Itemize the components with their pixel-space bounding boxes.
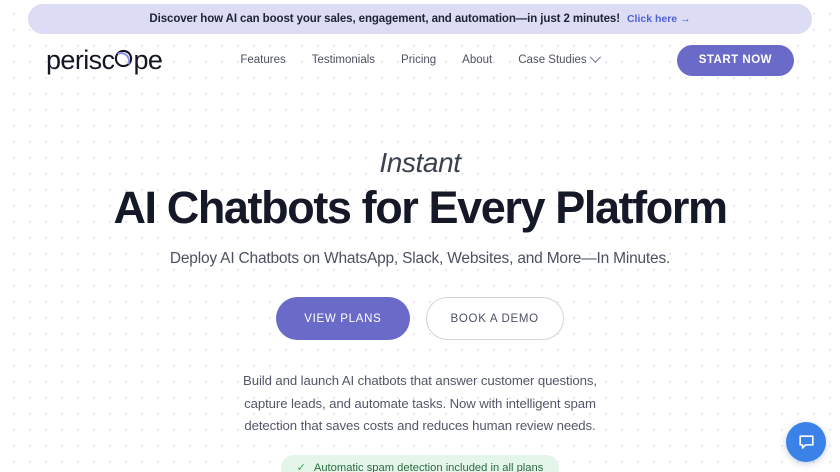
- page-title: AI Chatbots for Every Platform: [0, 183, 840, 233]
- nav-item-label: Testimonials: [312, 54, 375, 66]
- nav-item-label: Case Studies: [518, 54, 586, 66]
- status-badge-label: Automatic spam detection included in all…: [314, 462, 543, 472]
- site-header: perisc pe Features Testimonials Pricing …: [0, 34, 840, 86]
- nav-item-pricing[interactable]: Pricing: [401, 54, 436, 66]
- announcement-banner-link[interactable]: Click here →: [627, 13, 691, 25]
- logo-text-after: pe: [133, 45, 162, 76]
- hero-cta-group: VIEW PLANS BOOK A DEMO: [0, 297, 840, 340]
- nav-item-features[interactable]: Features: [240, 54, 285, 66]
- nav-item-label: Pricing: [401, 54, 436, 66]
- chat-widget-button[interactable]: [786, 422, 826, 462]
- nav-item-label: Features: [240, 54, 285, 66]
- logo-text-before: perisc: [46, 45, 114, 76]
- announcement-banner-container: Discover how AI can boost your sales, en…: [0, 0, 840, 34]
- hero-eyebrow: Instant: [0, 148, 840, 179]
- announcement-banner-text: Discover how AI can boost your sales, en…: [149, 13, 620, 25]
- status-badge: ✓ Automatic spam detection included in a…: [281, 455, 560, 472]
- logo[interactable]: perisc pe: [46, 45, 162, 76]
- main-nav: Features Testimonials Pricing About Case…: [240, 54, 599, 66]
- check-icon: ✓: [297, 463, 306, 472]
- chevron-down-icon: [590, 52, 601, 63]
- announcement-banner[interactable]: Discover how AI can boost your sales, en…: [28, 4, 812, 34]
- nav-item-case-studies[interactable]: Case Studies: [518, 54, 599, 66]
- periscope-lens-icon: [114, 49, 133, 68]
- nav-item-label: About: [462, 54, 492, 66]
- view-plans-button[interactable]: VIEW PLANS: [276, 297, 409, 340]
- chat-bubble-icon: [797, 433, 816, 452]
- book-a-demo-button[interactable]: BOOK A DEMO: [426, 297, 564, 340]
- badge-row: ✓ Automatic spam detection included in a…: [0, 437, 840, 472]
- hero-body-text: Build and launch AI chatbots that answer…: [234, 370, 606, 437]
- nav-item-testimonials[interactable]: Testimonials: [312, 54, 375, 66]
- hero-subtitle: Deploy AI Chatbots on WhatsApp, Slack, W…: [0, 250, 840, 268]
- nav-item-about[interactable]: About: [462, 54, 492, 66]
- hero-section: Instant AI Chatbots for Every Platform D…: [0, 86, 840, 472]
- start-now-button[interactable]: START NOW: [677, 45, 794, 76]
